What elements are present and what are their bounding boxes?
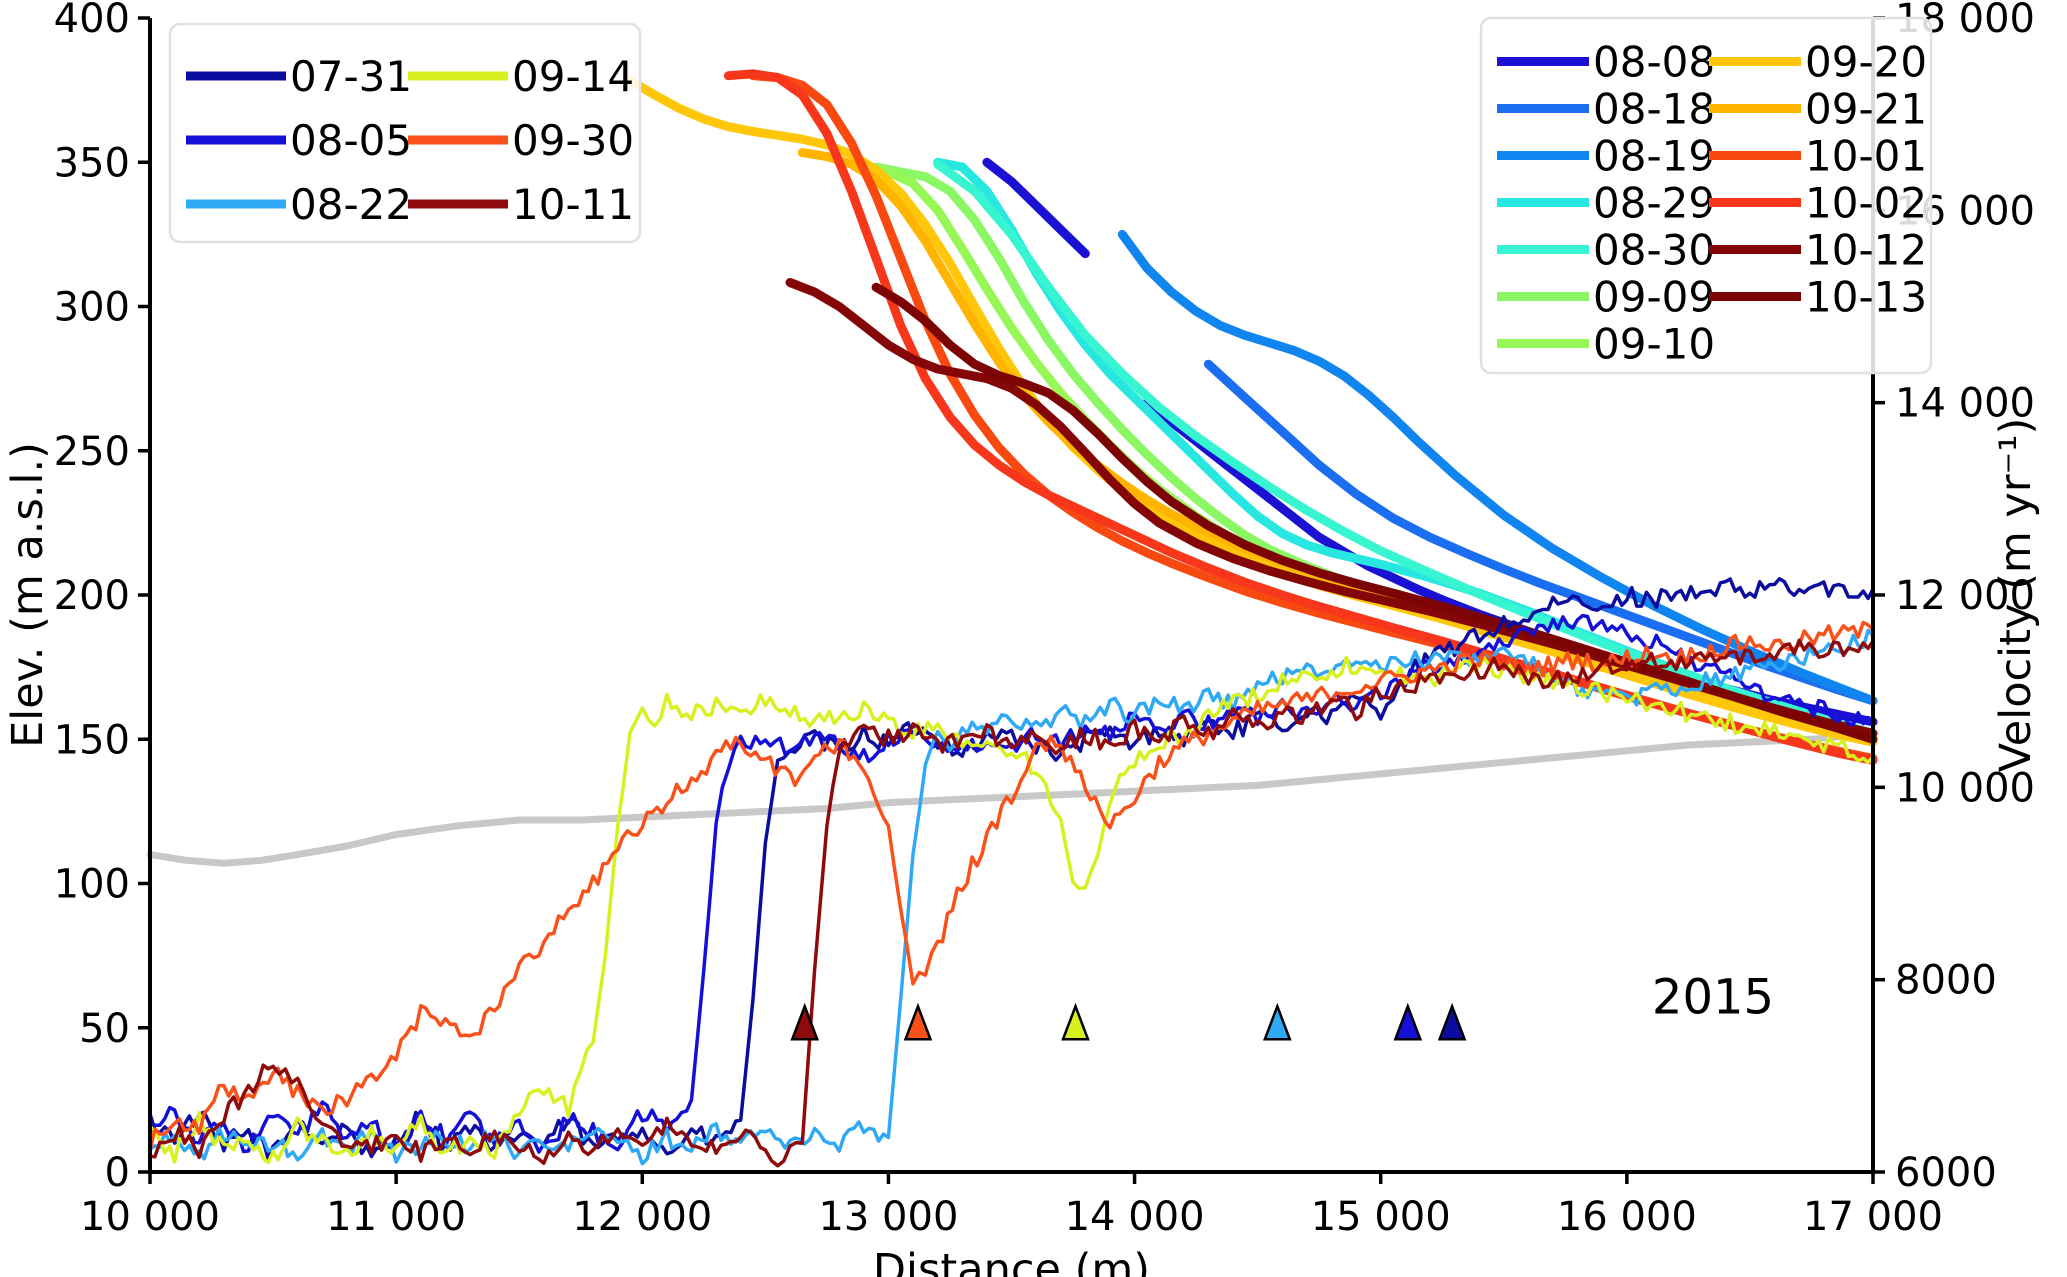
xtick-label: 12 000 <box>572 1194 712 1240</box>
xtick-label: 15 000 <box>1311 1194 1451 1240</box>
figure-container: 10 00011 00012 00013 00014 00015 00016 0… <box>0 0 2067 1277</box>
x-axis-title: Distance (m) <box>873 1245 1150 1277</box>
legend-label-10-02[interactable]: 10-02 <box>1805 179 1927 228</box>
ytick-label-left: 150 <box>54 717 130 763</box>
legend-label-10-11[interactable]: 10-11 <box>512 180 634 229</box>
ytick-label-left: 0 <box>105 1150 130 1196</box>
legend-label-10-13[interactable]: 10-13 <box>1805 273 1927 322</box>
legend-label-10-01[interactable]: 10-01 <box>1805 132 1927 181</box>
legend-label-08-22[interactable]: 08-22 <box>290 180 412 229</box>
legend-label-08-08[interactable]: 08-08 <box>1593 38 1715 87</box>
ytick-label-left: 250 <box>54 429 130 475</box>
ytick-label-left: 200 <box>54 573 130 619</box>
chart-svg: 10 00011 00012 00013 00014 00015 00016 0… <box>0 0 2067 1277</box>
xtick-label: 17 000 <box>1803 1194 1943 1240</box>
legend-label-10-12[interactable]: 10-12 <box>1805 226 1927 275</box>
ytick-label-left: 400 <box>54 0 130 42</box>
legend-label-08-29[interactable]: 08-29 <box>1593 179 1715 228</box>
ytick-label-left: 300 <box>54 285 130 331</box>
xtick-label: 10 000 <box>80 1194 220 1240</box>
legend-left[interactable]: 07-3108-0508-2209-1409-3010-11 <box>170 24 640 242</box>
ytick-label-right: 8000 <box>1895 958 1997 1004</box>
ytick-label-left: 50 <box>79 1006 130 1052</box>
legend-label-09-10[interactable]: 09-10 <box>1593 320 1715 369</box>
legend-label-09-09[interactable]: 09-09 <box>1593 273 1715 322</box>
y-axis-title-left: Elev. (m a.s.l.) <box>3 442 53 748</box>
year-annotation: 2015 <box>1652 969 1774 1025</box>
xtick-label: 16 000 <box>1557 1194 1697 1240</box>
legend-label-07-31[interactable]: 07-31 <box>290 52 412 101</box>
ytick-label-right: 6000 <box>1895 1150 1997 1196</box>
legend-label-08-05[interactable]: 08-05 <box>290 116 412 165</box>
ytick-label-left: 100 <box>54 862 130 908</box>
xtick-label: 11 000 <box>326 1194 466 1240</box>
y-axis-title-right: Velocity (m yr⁻¹) <box>1991 418 2041 773</box>
ytick-label-left: 350 <box>54 140 130 186</box>
legend-label-09-20[interactable]: 09-20 <box>1805 38 1927 87</box>
legend-label-09-30[interactable]: 09-30 <box>512 116 634 165</box>
legend-label-08-18[interactable]: 08-18 <box>1593 85 1715 134</box>
legend-right[interactable]: 08-0808-1808-1908-2908-3009-0909-1009-20… <box>1481 18 1931 373</box>
legend-label-08-30[interactable]: 08-30 <box>1593 226 1715 275</box>
annotation-year: 2015 <box>1652 969 1774 1025</box>
legend-label-09-14[interactable]: 09-14 <box>512 52 634 101</box>
xtick-label: 14 000 <box>1065 1194 1205 1240</box>
legend-label-09-21[interactable]: 09-21 <box>1805 85 1927 134</box>
xtick-label: 13 000 <box>818 1194 958 1240</box>
legend-label-08-19[interactable]: 08-19 <box>1593 132 1715 181</box>
